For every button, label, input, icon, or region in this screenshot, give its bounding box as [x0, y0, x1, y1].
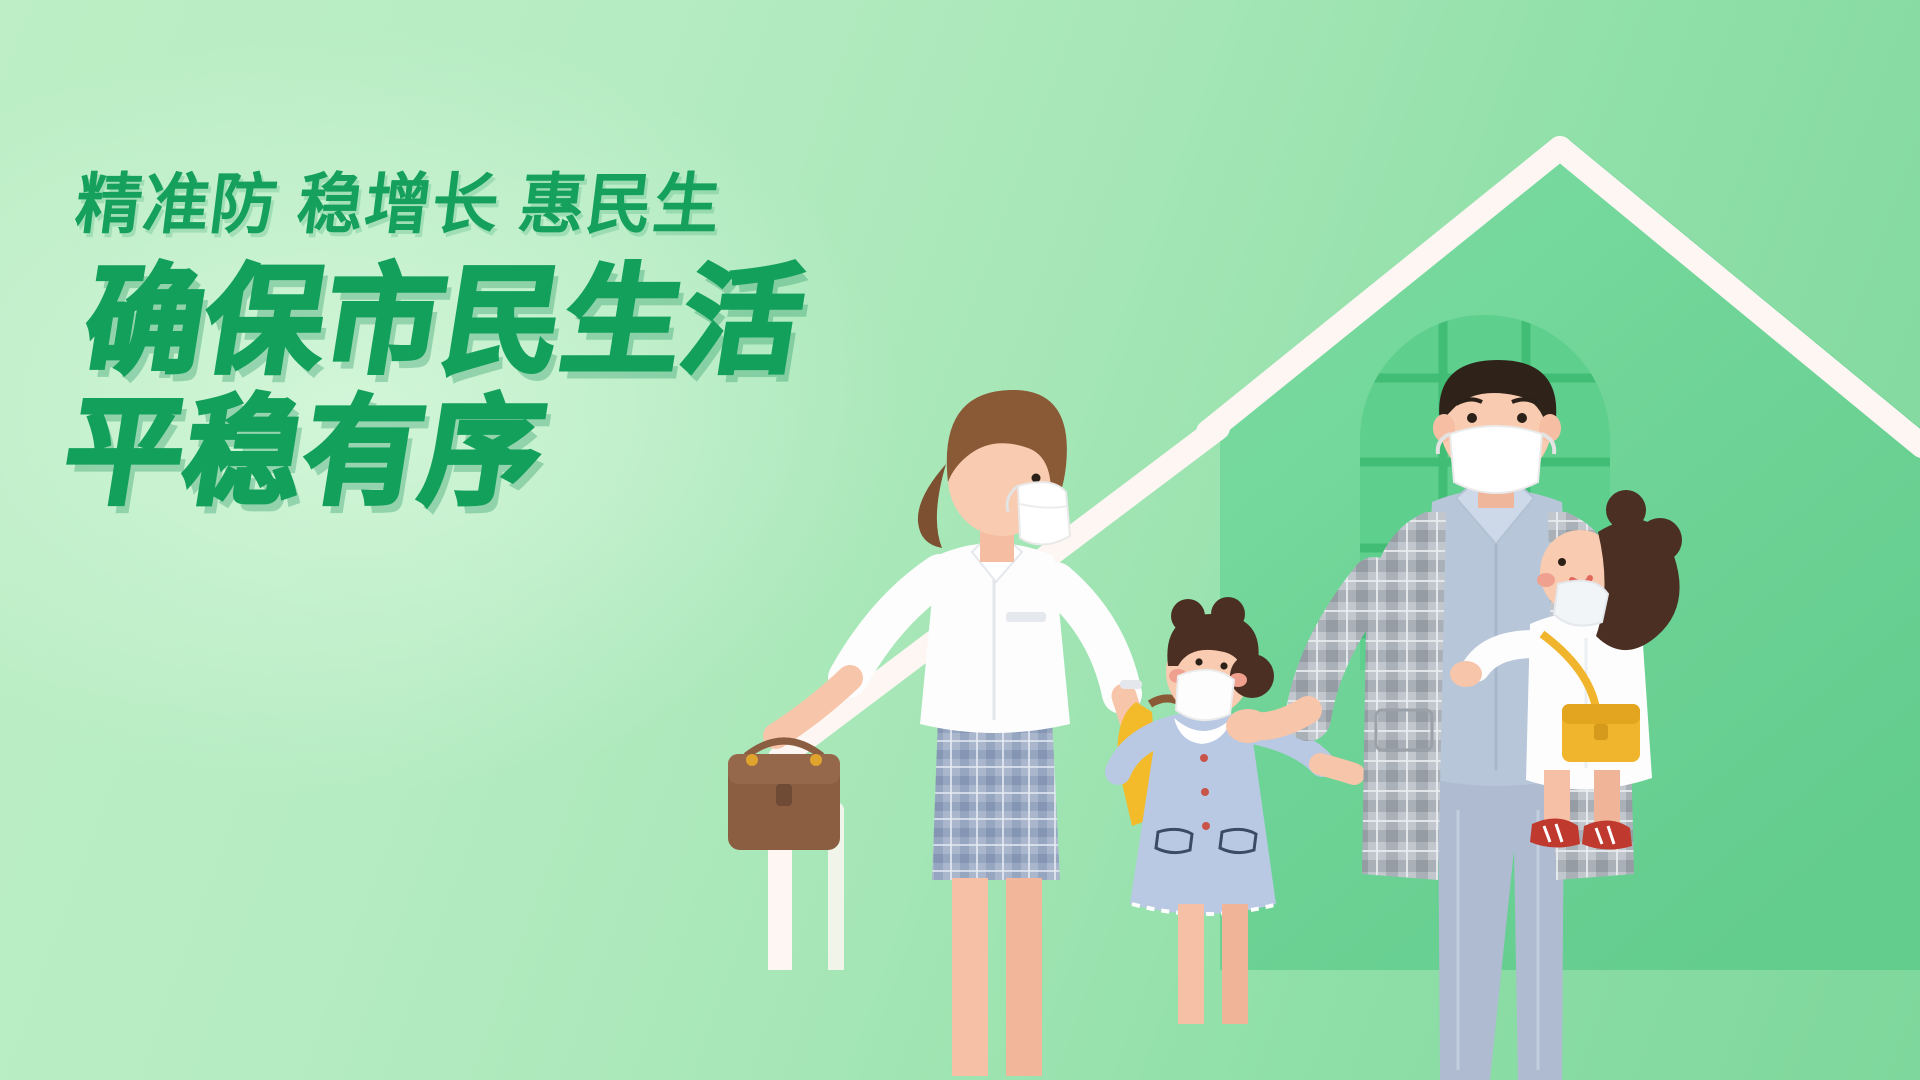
father-arm-left-sleeve — [1308, 580, 1374, 718]
father-mask — [1450, 426, 1542, 493]
mother-watch — [1120, 680, 1142, 689]
girl-leg-right — [1222, 904, 1248, 1024]
mother-head — [918, 390, 1070, 548]
mother-figure — [728, 390, 1163, 1076]
father-hand-left — [1226, 709, 1270, 743]
mother-eye — [1032, 474, 1041, 483]
mother-leg-right — [1006, 878, 1042, 1076]
baby-hand — [1450, 661, 1482, 687]
mother-leg-left — [952, 878, 988, 1076]
mother-arm-left-skin — [776, 678, 850, 736]
mother-skirt — [932, 718, 1060, 880]
father-head — [1433, 360, 1561, 493]
girl-head — [1166, 597, 1274, 720]
girl-hair-bun-right — [1211, 597, 1245, 631]
girl-leg-left — [1178, 904, 1204, 1024]
girl-mask — [1176, 670, 1234, 720]
mother-mask — [1018, 482, 1070, 544]
poster-canvas: 精准防 稳增长 惠民生 确保市民生活 平稳有序 — [0, 0, 1920, 1080]
mother-arm-right-sleeve — [1056, 582, 1122, 694]
girl-hair-bun-left — [1171, 599, 1205, 633]
family-illustration — [700, 360, 1920, 1080]
mother-pocket — [1006, 612, 1046, 622]
handbag — [728, 741, 840, 850]
kicker-text: 精准防 稳增长 惠民生 — [71, 168, 940, 242]
baby-mask — [1554, 581, 1608, 626]
